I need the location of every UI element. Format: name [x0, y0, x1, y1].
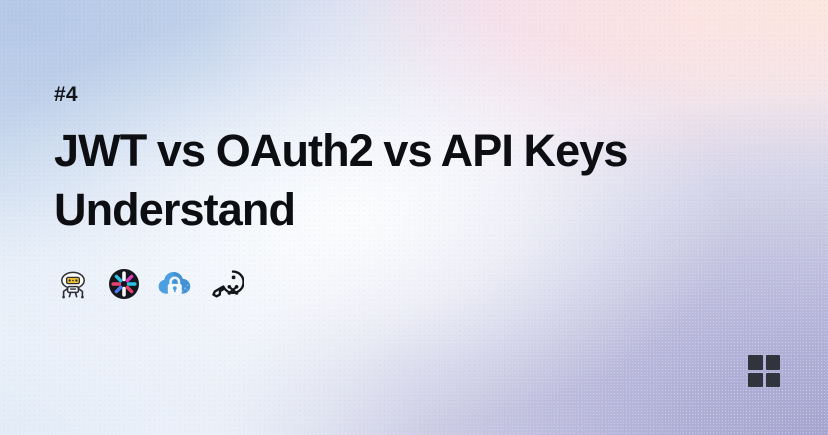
- key-icon: [207, 265, 245, 303]
- logo-square-top-left: [748, 355, 763, 370]
- color-burst-icon: [105, 265, 143, 303]
- logo-square-top-right: [766, 355, 781, 370]
- four-square-grid-logo: [748, 355, 780, 387]
- card-content: #4 JWT vs OAuth2 vs API Keys Understand: [0, 0, 828, 435]
- episode-number-badge: #4: [54, 84, 828, 105]
- title-card: #4 JWT vs OAuth2 vs API Keys Understand: [0, 0, 828, 435]
- cloud-lock-icon: [156, 265, 194, 303]
- logo-square-bottom-left: [748, 373, 763, 388]
- page-title: JWT vs OAuth2 vs API Keys Understand: [54, 122, 694, 239]
- logo-square-bottom-right: [766, 373, 781, 388]
- icon-row: [54, 265, 828, 303]
- robot-icon: [54, 265, 92, 303]
